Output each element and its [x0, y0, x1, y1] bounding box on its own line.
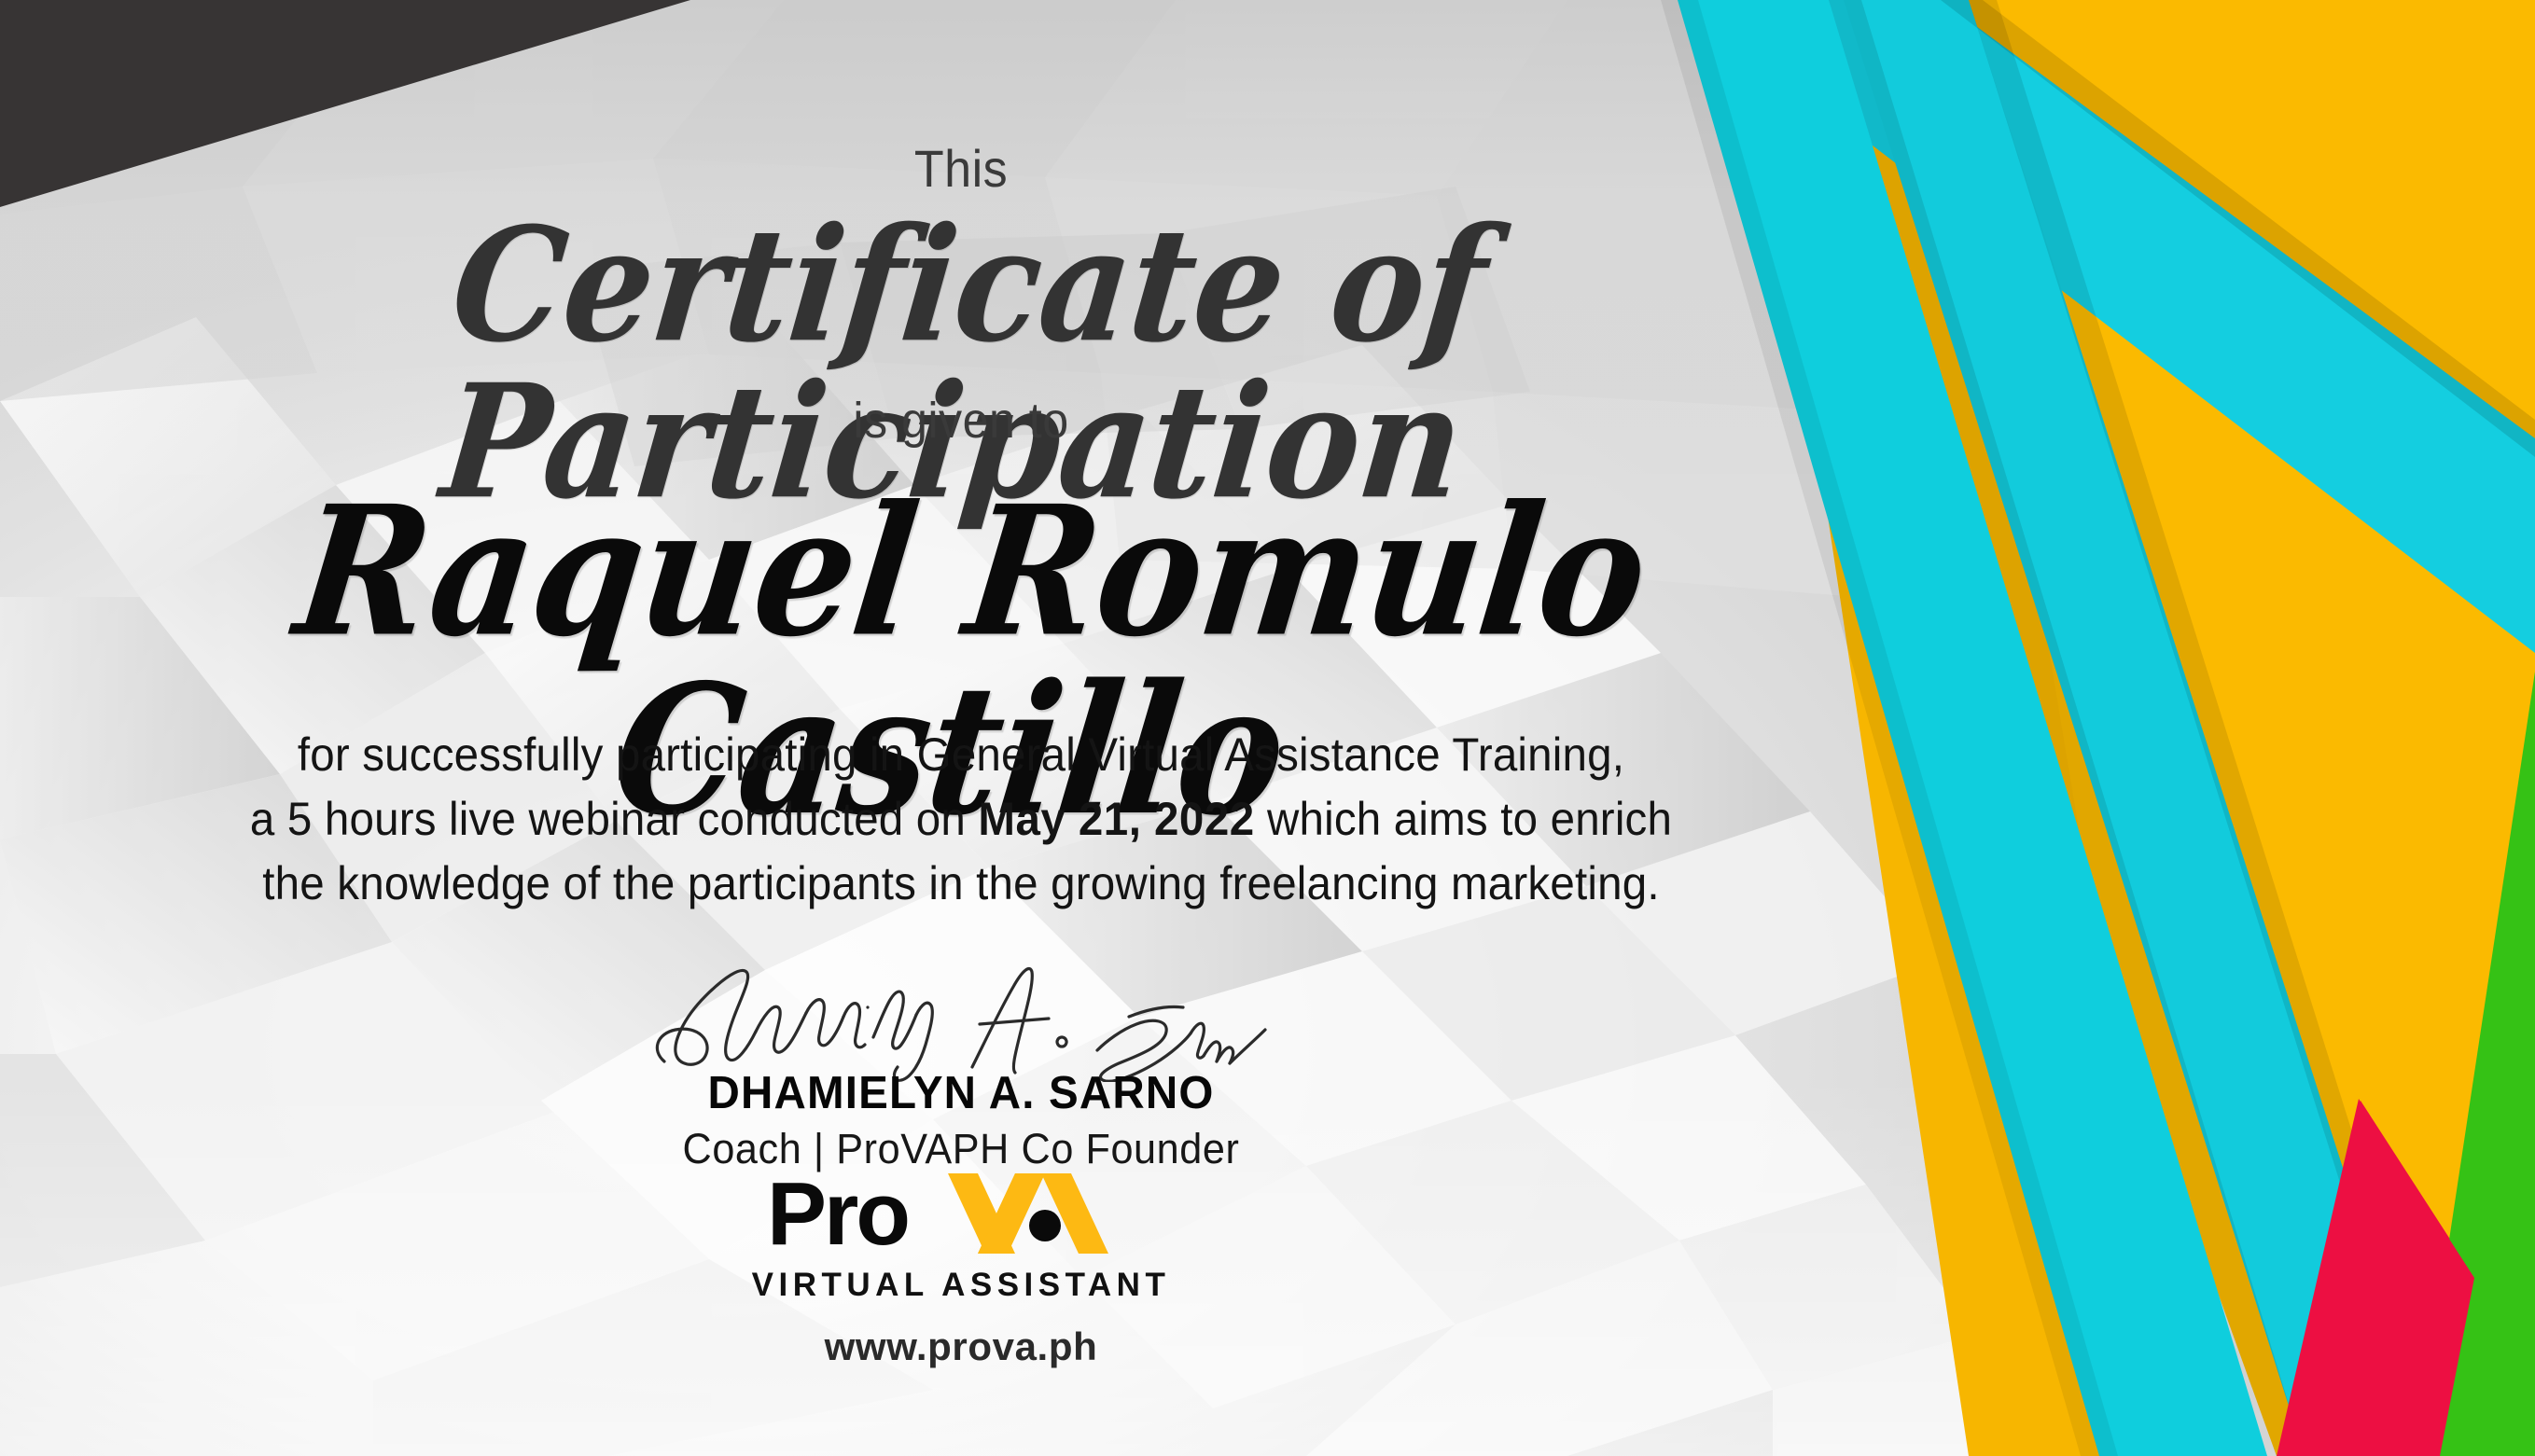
signatory-role: Coach | ProVAPH Co Founder [38, 1125, 1884, 1173]
intro-text: This [67, 138, 1855, 199]
handwritten-signature-icon [644, 951, 1278, 1082]
body-line-1: for successfully participating in Genera… [102, 723, 1821, 787]
body-line-2-before: a 5 hours live webinar conducted on [250, 793, 966, 845]
certificate-content: This Certificate of Participation is giv… [0, 0, 1922, 1456]
body-line-3: the knowledge of the participants in the… [102, 852, 1821, 916]
prova-logo-icon: Pro [765, 1168, 1157, 1265]
svg-text:Pro: Pro [767, 1168, 908, 1264]
prova-tagline: VIRTUAL ASSISTANT [0, 1267, 1922, 1304]
body-line-2-after: which aims to enrich [1267, 793, 1672, 845]
certificate-canvas: This Certificate of Participation is giv… [0, 0, 2535, 1456]
prova-website-url: www.prova.ph [0, 1324, 1922, 1369]
prova-logo-block: Pro VIRTUAL ASSISTANT www.prova.ph [0, 1168, 1922, 1369]
event-date: May 21, 2022 [978, 793, 1254, 845]
signatory-name: DHAMIELYN A. SARNO [29, 1067, 1893, 1119]
body-line-2: a 5 hours live webinar conducted on May … [102, 787, 1821, 852]
given-to-label: is given to [67, 392, 1855, 450]
signature-block: DHAMIELYN A. SARNO Coach | ProVAPH Co Fo… [0, 951, 1922, 1173]
certificate-body: for successfully participating in Genera… [102, 723, 1821, 916]
